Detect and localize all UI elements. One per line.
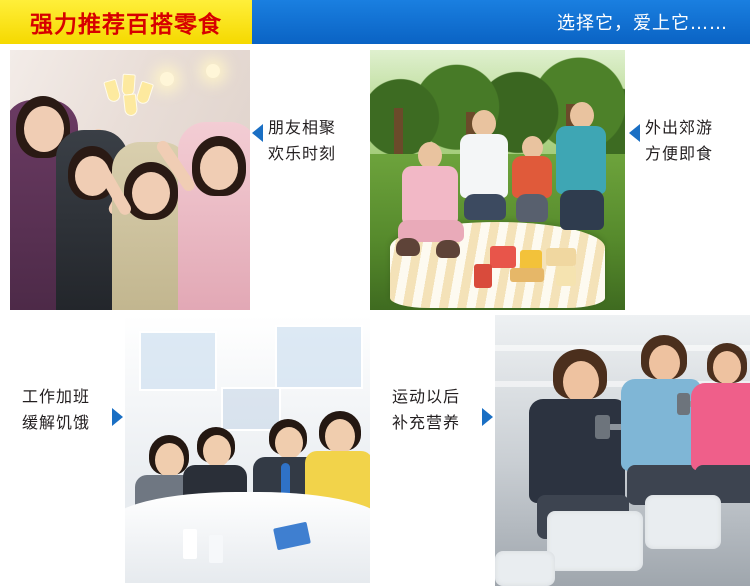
person-body [556,126,606,194]
exercise-bike [645,495,721,549]
person-body [512,156,552,198]
person-head [200,146,238,190]
caption-friends: 朋友相聚 欢乐时刻 [268,115,336,167]
conference-table [125,492,370,583]
photo-office-meeting [125,315,370,583]
caption-gym: 运动以后 补充营养 [392,384,460,436]
person-head [132,172,170,214]
exercise-bike [547,511,643,571]
person-shoe [436,240,460,258]
caption-gym-line2: 补充营养 [392,410,460,436]
person-head [570,102,594,129]
person-figure [396,142,466,262]
exercise-bike [495,551,555,586]
person-head [155,443,184,477]
photo-friends-toasting [10,50,250,310]
person-head [649,345,680,381]
person-shoe [396,238,420,256]
office-window [139,331,217,391]
person-head [418,142,442,169]
ceiling-lamp-icon [160,72,174,86]
person-body [402,166,458,224]
person-body [460,134,508,198]
arrow-left-icon-friends [252,124,263,142]
caption-friends-line1: 朋友相聚 [268,115,336,141]
person-legs [516,194,548,222]
food-item [556,266,576,286]
caption-picnic-line2: 方便即食 [645,141,713,167]
caption-gym-line1: 运动以后 [392,384,460,410]
person-legs [464,194,506,220]
person-head [275,427,303,459]
caption-office: 工作加班 缓解饥饿 [22,384,90,436]
caption-picnic-line1: 外出郊游 [645,115,713,141]
arrow-left-icon-picnic [629,124,640,142]
food-item [520,250,542,270]
photo-family-picnic [370,50,625,310]
person-head [203,435,231,467]
person-body [691,383,750,471]
arrow-right-icon-office [112,408,123,426]
person-head [325,419,355,454]
dumbbell-plate [595,415,610,439]
photo-gym-workout [495,315,750,586]
ceiling-lamp-icon [206,64,220,78]
food-item [474,264,492,288]
person-head [713,351,741,384]
office-window [275,325,363,389]
food-item [490,246,516,268]
person-figure [552,102,610,230]
person-head [563,361,599,403]
caption-office-line1: 工作加班 [22,384,90,410]
cup [183,529,197,559]
person-figure [510,136,554,222]
person-legs [560,190,604,230]
header-badge: 强力推荐百搭零食 [0,0,252,44]
drink-glass-icon [123,93,138,116]
header-slogan: 选择它，爱上它…… [557,0,728,44]
promo-banner: 强力推荐百搭零食 选择它，爱上它…… 朋友相 [0,0,750,586]
person-head [472,110,496,137]
food-item [546,248,576,266]
food-item [510,268,544,282]
caption-picnic: 外出郊游 方便即食 [645,115,713,167]
header-badge-label: 强力推荐百搭零食 [30,5,222,39]
arrow-right-icon-gym [482,408,493,426]
caption-friends-line2: 欢乐时刻 [268,141,336,167]
cup [209,535,223,563]
caption-office-line2: 缓解饥饿 [22,410,90,436]
header-bar: 强力推荐百搭零食 选择它，爱上它…… [0,0,750,44]
